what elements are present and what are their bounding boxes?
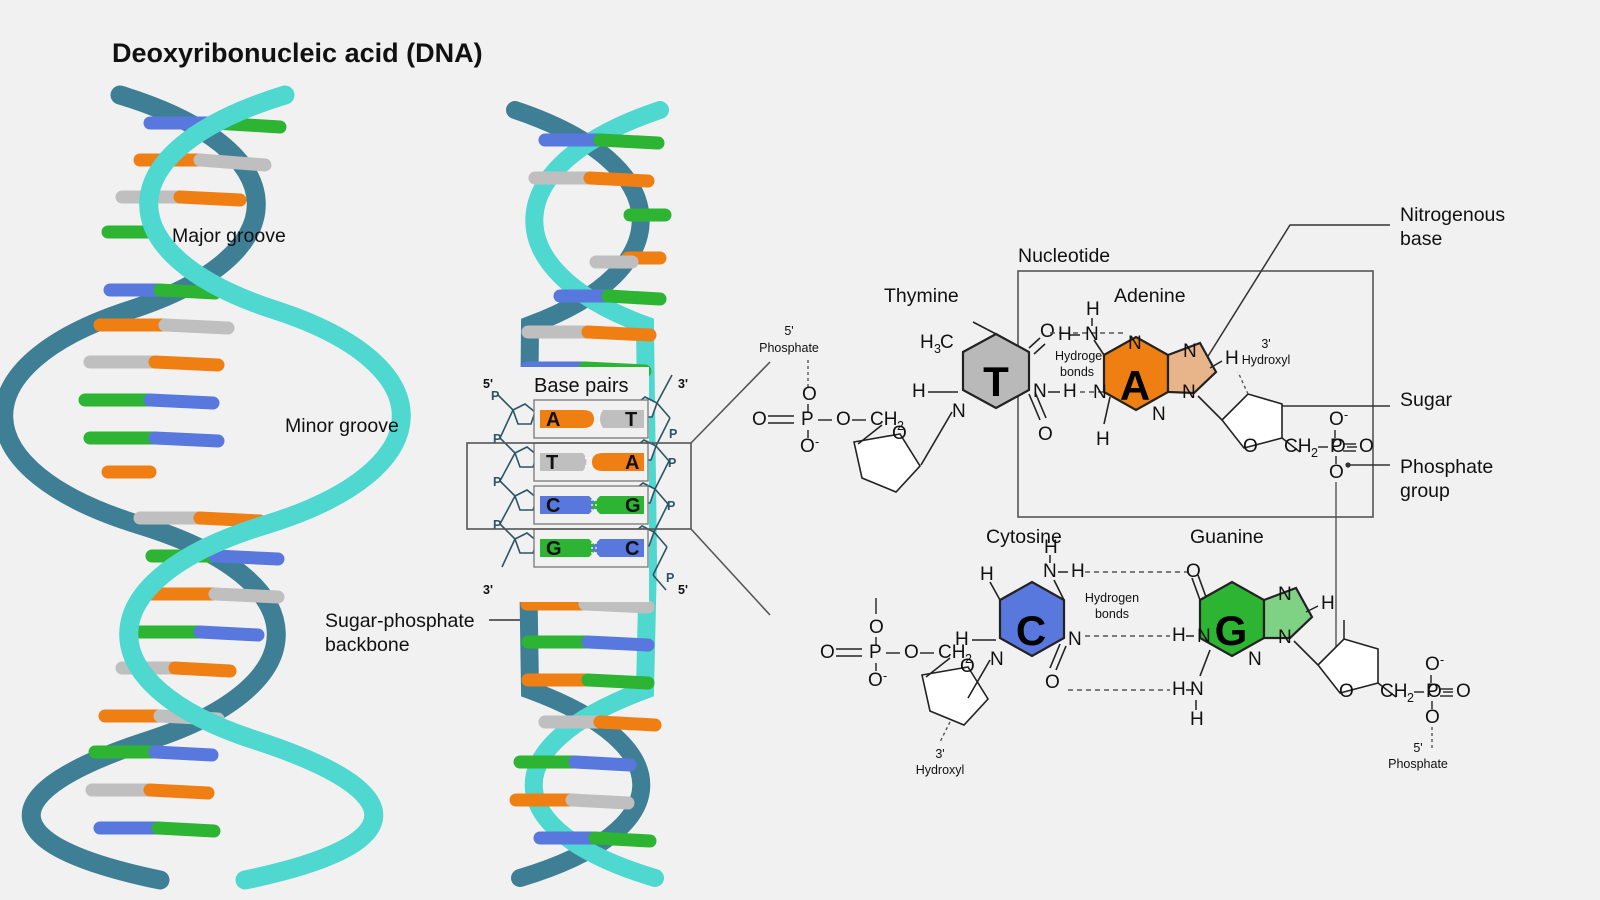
label-sugar: Sugar: [1400, 389, 1453, 411]
atom-N-adenine-top: N: [1128, 333, 1142, 354]
base-letter-left: C: [546, 495, 560, 517]
atom-H-imidazole-adenine: H: [1225, 348, 1239, 369]
label-hydrogen-bonds-cg-line2: bonds: [1095, 607, 1129, 621]
atom-N-thymine-sugar: N: [952, 401, 966, 422]
base-letter-adenine: A: [1120, 362, 1150, 409]
charge-minus-adenine: -: [1344, 408, 1348, 422]
label-3prime-hydroxyl-adenine-word: Hydroxyl: [1242, 353, 1291, 367]
label-thymine: Thymine: [884, 285, 959, 307]
label-major-groove: Major groove: [172, 225, 286, 247]
atom-N-glyco-guanine: N: [1278, 627, 1292, 648]
base-letter-left: T: [546, 452, 558, 474]
phosphate-marker-l1: P: [491, 389, 499, 403]
atom-O-sugar-adenine: O: [1243, 436, 1258, 457]
base-letter-right: G: [625, 495, 641, 517]
atom-O-guanine-top: O: [1186, 561, 1201, 582]
atom-O-cyt-top: O: [869, 617, 884, 638]
label-3prime-hydroxyl-adenine-prime: 3': [1261, 337, 1270, 351]
charge-minus-guanine: -: [1440, 653, 1444, 667]
label-phosphate-group-line2: group: [1400, 480, 1450, 502]
atom-O-sugar-cytosine: O: [960, 656, 975, 677]
atom-H-amino-adenine-left: H: [1058, 324, 1072, 345]
atom-N-cyt-right: N: [1068, 629, 1082, 650]
atom-H-adenine-bottom: H: [1096, 429, 1110, 450]
atom-O-left-top: O: [752, 409, 767, 430]
charge-minus-cyt: -: [883, 669, 887, 683]
atom-CH2-guanine: CH: [1380, 681, 1407, 702]
label-hydrogen-bonds-at-line2: bonds: [1060, 365, 1094, 379]
label-sugar-phosphate-line2: backbone: [325, 634, 410, 656]
prime-label-left-top: 5': [483, 377, 493, 391]
label-5prime-guanine: 5': [1413, 741, 1422, 755]
atom-O-adenine-upper: O: [1329, 409, 1344, 430]
atom-H-amino-cyt-top: H: [1044, 537, 1058, 558]
atom-O-thymine-top: O: [1040, 321, 1055, 342]
atom-H-methyl: H: [920, 332, 934, 353]
atom-O-thymine-bottom: O: [1038, 424, 1053, 445]
base-pair-row[interactable]: A T: [534, 400, 648, 438]
label-nitrogenous-base-line2: base: [1400, 228, 1442, 250]
prime-label-right-top: 3': [678, 377, 688, 391]
phosphate-marker-r4: P: [666, 571, 674, 585]
atom-O-cyt-minus: O: [868, 670, 883, 691]
atom-CH2-adenine: CH: [1284, 436, 1311, 457]
atom-O-top: O: [802, 384, 817, 405]
label-phosphate-top: Phosphate: [759, 341, 819, 355]
base-pair-row[interactable]: C G: [534, 486, 648, 524]
charge-minus-top: -: [815, 435, 819, 449]
base-letter-right: A: [625, 452, 639, 474]
label-phosphate-group-line1: Phosphate: [1400, 456, 1493, 478]
atom-N-adenine-left: N: [1093, 382, 1107, 403]
atom-O-cyt-left: O: [820, 642, 835, 663]
label-hydrogen-bonds-cg-line1: Hydrogen: [1085, 591, 1139, 605]
atom-O-guanine-upper: O: [1425, 654, 1440, 675]
atom-H-amino-adenine-top: H: [1086, 299, 1100, 320]
atom-H-amino-cyt-right: H: [1071, 561, 1085, 582]
atom-O-minus-top: O: [800, 436, 815, 457]
atom-N-amino-guanine: N: [1190, 679, 1204, 700]
label-phosphate-guanine: Phosphate: [1388, 757, 1448, 771]
base-letter-left: G: [546, 538, 562, 560]
atom-P-cyt: P: [869, 642, 882, 663]
atom-O-right-top: O: [836, 409, 851, 430]
label-adenine: Adenine: [1114, 285, 1186, 307]
label-3prime-hydroxyl-cyt-word: Hydroxyl: [916, 763, 965, 777]
atom-N-glyco-adenine: N: [1182, 382, 1196, 403]
page-title: Deoxyribonucleic acid (DNA): [112, 38, 483, 68]
atom-N-cyt-sugar: N: [990, 649, 1004, 670]
phosphate-marker-r3: P: [667, 499, 675, 513]
atom-P-adenine: P: [1330, 436, 1343, 457]
label-5prime-top: 5': [784, 324, 793, 338]
atom-C-methyl: C: [940, 332, 954, 353]
dna-diagram-canvas: Deoxyribonucleic acid (DNA): [0, 0, 1600, 900]
atom-O-cyt-carbonyl: O: [1045, 672, 1060, 693]
label-nucleotide: Nucleotide: [1018, 245, 1110, 267]
atom-N-imidazole-guanine: N: [1278, 584, 1292, 605]
label-guanine: Guanine: [1190, 526, 1264, 548]
atom-O-adenine-double: O: [1359, 436, 1374, 457]
atom-N-guanine-left: N: [1197, 626, 1211, 647]
atom-H-imidazole-guanine: H: [1321, 593, 1335, 614]
atom-O-sugar-thymine: O: [892, 423, 907, 444]
label-nitrogenous-base-line1: Nitrogenous: [1400, 204, 1505, 226]
atom-H-amino-guanine: H: [1190, 709, 1204, 730]
atom-H-cg-lower: H: [1172, 679, 1186, 700]
atom-H-thymine: H: [1063, 381, 1077, 402]
atom-CH2-sub-adenine: 2: [1311, 446, 1318, 460]
prime-label-right-bottom: 5': [678, 583, 688, 597]
atom-N-thymine: N: [1033, 381, 1047, 402]
base-letter-cytosine: C: [1016, 607, 1046, 654]
base-pair-row[interactable]: T A: [534, 443, 648, 481]
atom-O-cyt-right: O: [904, 642, 919, 663]
label-minor-groove: Minor groove: [285, 415, 399, 437]
base-letter-right: T: [625, 409, 637, 431]
phosphate-marker-l4: P: [493, 518, 501, 532]
atom-N-guanine-bottom: N: [1248, 649, 1262, 670]
atom-O-guanine-lower: O: [1425, 707, 1440, 728]
base-letter-left: A: [546, 409, 560, 431]
atom-H-cyt-left: H: [955, 629, 969, 650]
atom-N-adenine-bottom: N: [1152, 404, 1166, 425]
atom-P-top: P: [801, 409, 814, 430]
atom-H-cyt-upper: H: [980, 564, 994, 585]
label-sugar-phosphate-line1: Sugar-phosphate: [325, 610, 475, 632]
phosphate-marker-r2: P: [668, 456, 676, 470]
atom-O-adenine-lower: O: [1329, 462, 1344, 483]
atom-CH2-sub-guanine: 2: [1407, 691, 1414, 705]
base-pair-row[interactable]: G C: [534, 529, 648, 567]
base-letter-guanine: G: [1215, 607, 1248, 654]
atom-N-amino-cyt: N: [1043, 561, 1057, 582]
atom-H-thymine-left: H: [912, 381, 926, 402]
label-3prime-hydroxyl-cyt-prime: 3': [935, 747, 944, 761]
atom-H-cg-mid: H: [1172, 625, 1186, 646]
atom-O-sugar-guanine: O: [1339, 681, 1354, 702]
atom-N-amino-adenine: N: [1085, 324, 1099, 345]
phosphate-marker-l2: P: [493, 432, 501, 446]
prime-label-left-bottom: 3': [483, 583, 493, 597]
base-pairs-title: Base pairs: [534, 375, 629, 397]
atom-N-imidazole-adenine: N: [1183, 341, 1197, 362]
atom-O-guanine-double: O: [1456, 681, 1471, 702]
phosphate-marker-l3: P: [493, 475, 501, 489]
phosphate-marker-r1: P: [669, 427, 677, 441]
atom-P-guanine: P: [1426, 681, 1439, 702]
base-letter-thymine: T: [983, 358, 1009, 405]
base-letter-right: C: [625, 538, 639, 560]
